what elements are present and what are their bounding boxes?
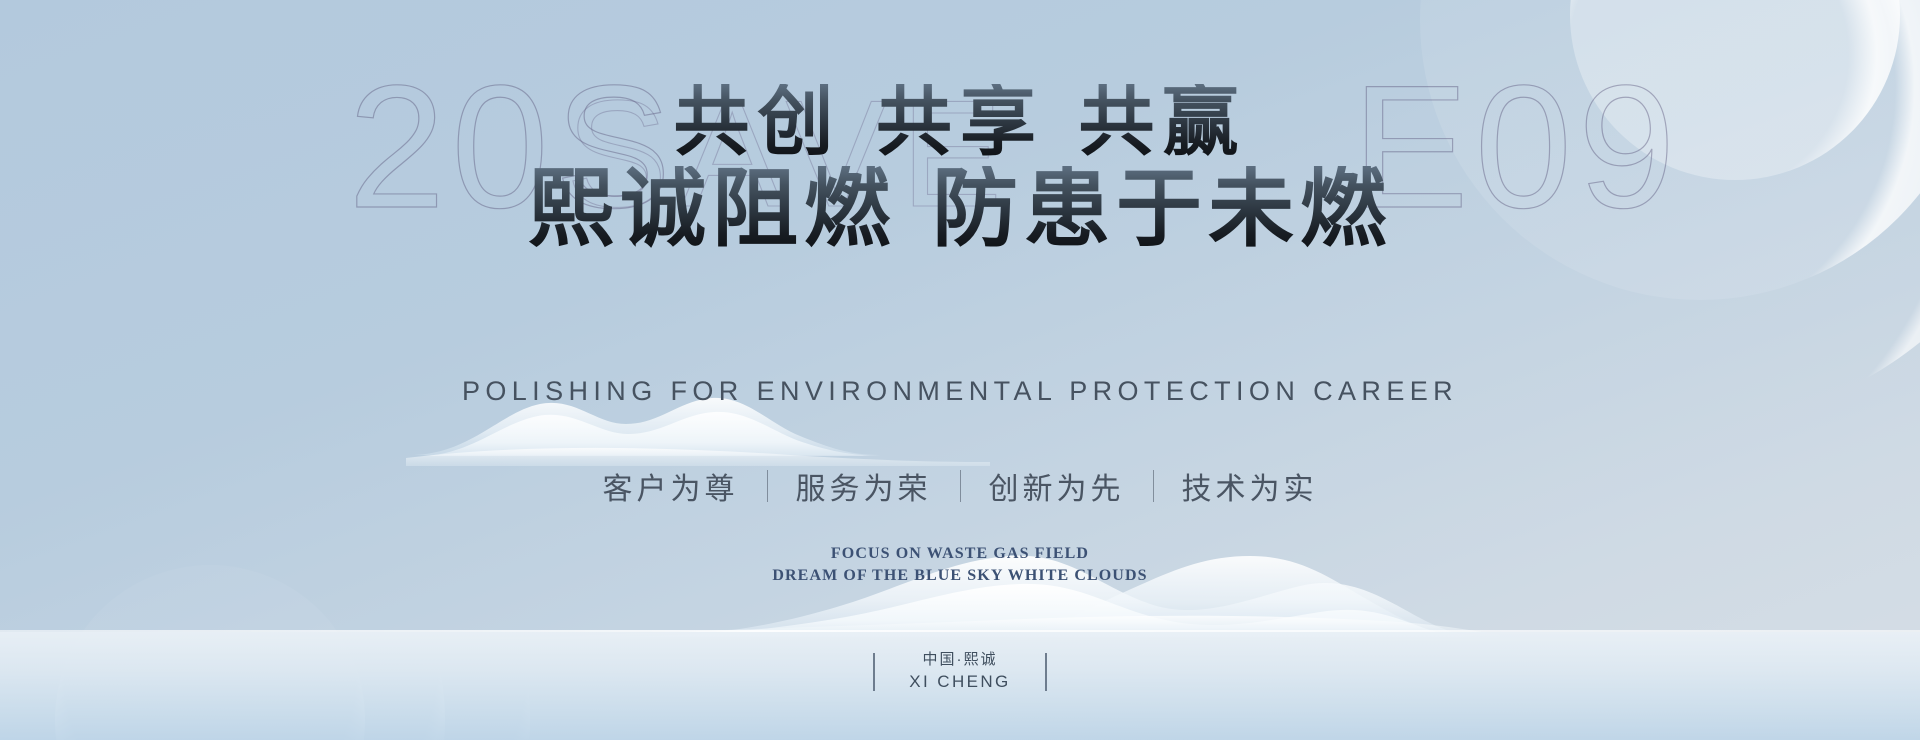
promo-banner: 20S SAVE E09 [0,0,1920,740]
headline-line-secondary: 熙诚阻燃 防患于未燃 [0,166,1920,252]
english-tagline: POLISHING FOR ENVIRONMENTAL PROTECTION C… [0,376,1920,407]
value-item-1: 客户为尊 [575,464,767,508]
signature-bar-left [873,653,875,691]
value-separator-3 [1153,470,1154,502]
value-item-4: 技术为实 [1154,464,1346,508]
headline-block: 共创 共享 共赢 熙诚阻燃 防患于未燃 [0,84,1920,252]
brand-signature: 中国·熙诚 XI CHENG [0,649,1920,694]
signature-english: XI CHENG [909,671,1010,694]
horizon-line [0,630,1920,632]
ring-bottom-left-mid [0,485,445,740]
sub-english-line-2: DREAM OF THE BLUE SKY WHITE CLOUDS [0,565,1920,587]
signature-chinese: 中国·熙诚 [909,649,1010,671]
signature-text: 中国·熙诚 XI CHENG [909,649,1010,694]
sub-english-block: FOCUS ON WASTE GAS FIELD DREAM OF THE BL… [0,543,1920,586]
value-proposition-row: 客户为尊 服务为荣 创新为先 技术为实 [0,464,1920,508]
signature-bar-right [1045,653,1047,691]
value-item-3: 创新为先 [961,464,1153,508]
headline-line-primary: 共创 共享 共赢 [0,84,1920,160]
value-item-2: 服务为荣 [768,464,960,508]
value-separator-2 [960,470,961,502]
sub-english-line-1: FOCUS ON WASTE GAS FIELD [0,543,1920,565]
value-separator-1 [767,470,768,502]
